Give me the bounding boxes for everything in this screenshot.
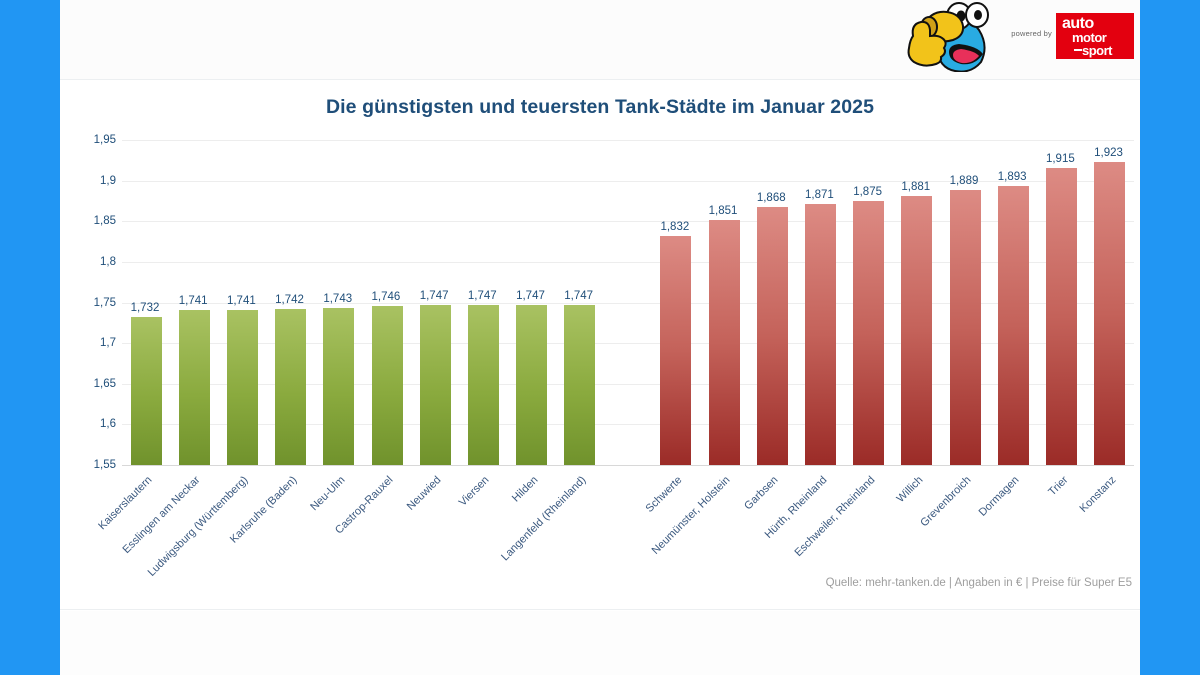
bar[interactable]: 1,741	[179, 310, 210, 465]
y-axis-tick: 1,95	[94, 134, 116, 146]
bar[interactable]: 1,875	[853, 201, 884, 465]
category-tick: Karlsruhe (Baden)	[267, 468, 315, 608]
bar-value-label: 1,832	[660, 221, 689, 233]
y-axis-tick: 1,55	[94, 459, 116, 471]
auto-motor-sport-logo: auto motor sport	[1056, 13, 1134, 59]
y-axis-tick: 1,65	[94, 378, 116, 390]
bar-slot: 1,741	[170, 140, 218, 465]
category-label: Trier	[1046, 474, 1070, 498]
bar[interactable]: 1,746	[372, 306, 403, 465]
bar[interactable]: 1,743	[323, 308, 354, 465]
y-axis-tick: 1,8	[100, 256, 116, 268]
bar-value-label: 1,741	[227, 295, 256, 307]
bar-value-label: 1,871	[805, 189, 834, 201]
bar-slot: 1,889	[941, 140, 989, 465]
bar-slot: 1,893	[989, 140, 1037, 465]
bar-value-label: 1,747	[516, 290, 545, 302]
bar-slot: 1,732	[122, 140, 170, 465]
bar[interactable]: 1,868	[757, 207, 788, 465]
bar-slot: 1,747	[411, 140, 459, 465]
bar-slot: 1,881	[893, 140, 941, 465]
bar[interactable]: 1,889	[950, 190, 981, 465]
bar-slot: 1,875	[845, 140, 893, 465]
category-tick: Viersen	[459, 468, 507, 608]
plot-area: 1,951,91,851,81,751,71,651,61,55 1,7321,…	[60, 80, 1140, 610]
category-tick: Neuwied	[411, 468, 459, 608]
category-tick: Langenfeld (Rheinland)	[556, 468, 604, 608]
bar-value-label: 1,889	[950, 175, 979, 187]
bar-value-label: 1,732	[131, 302, 160, 314]
bar-value-label: 1,747	[468, 290, 497, 302]
bar[interactable]: 1,881	[901, 196, 932, 465]
y-axis-tick: 1,6	[100, 418, 116, 430]
category-label: Schwerte	[644, 474, 685, 515]
bar[interactable]: 1,893	[998, 186, 1029, 465]
category-label: Viersen	[457, 474, 492, 509]
bar-value-label: 1,915	[1046, 153, 1075, 165]
bar[interactable]: 1,741	[227, 310, 258, 465]
bar-value-label: 1,851	[709, 205, 738, 217]
category-label: Neuwied	[405, 474, 444, 513]
powered-by-label: powered by	[1011, 29, 1052, 44]
y-axis-tick: 1,85	[94, 215, 116, 227]
bar-value-label: 1,742	[275, 294, 304, 306]
bar[interactable]: 1,871	[805, 204, 836, 465]
bar[interactable]: 1,747	[516, 305, 547, 465]
bar-slot: 1,743	[315, 140, 363, 465]
bar-slot: 1,742	[267, 140, 315, 465]
header-band: powered by auto motor sport	[60, 0, 1140, 80]
logo-group: powered by auto motor sport	[897, 0, 1134, 72]
bar-slot: 1,746	[363, 140, 411, 465]
bar[interactable]: 1,742	[275, 309, 306, 465]
thumbs-up-mascot-icon	[897, 0, 1007, 72]
bar-slot: 1,832	[652, 140, 700, 465]
bar[interactable]: 1,732	[131, 317, 162, 465]
bar-slot: 1,851	[700, 140, 748, 465]
bar-value-label: 1,746	[372, 291, 401, 303]
x-axis-line	[122, 465, 1134, 466]
bar-value-label: 1,743	[323, 293, 352, 305]
bar-slot: 1,868	[748, 140, 796, 465]
logo-dash	[1074, 49, 1082, 51]
category-label: Garbsen	[743, 474, 781, 512]
bar-slot: 1,747	[556, 140, 604, 465]
bar-group-günstigste: 1,7321,7411,7411,7421,7431,7461,7471,747…	[122, 140, 604, 465]
y-axis-tick: 1,75	[94, 297, 116, 309]
category-tick: Neu-Ulm	[315, 468, 363, 608]
category-tick: Neumünster, Holstein	[700, 468, 748, 608]
bar-slot: 1,747	[459, 140, 507, 465]
bar-value-label: 1,741	[179, 295, 208, 307]
logo-line-sport: sport	[1082, 43, 1112, 58]
y-axis-tick: 1,9	[100, 175, 116, 187]
bar-slot: 1,747	[508, 140, 556, 465]
category-label: Willich	[895, 474, 926, 505]
bar-value-label: 1,747	[420, 290, 449, 302]
bar-value-label: 1,923	[1094, 147, 1123, 159]
bar-slot: 1,915	[1037, 140, 1085, 465]
bar[interactable]: 1,747	[420, 305, 451, 465]
bars-container: 1,7321,7411,7411,7421,7431,7461,7471,747…	[122, 140, 1134, 465]
bar[interactable]: 1,747	[468, 305, 499, 465]
bar-value-label: 1,881	[901, 181, 930, 193]
bar-slot: 1,923	[1086, 140, 1134, 465]
bar[interactable]: 1,923	[1094, 162, 1125, 465]
footer-band	[60, 611, 1140, 675]
bar-value-label: 1,868	[757, 192, 786, 204]
bar[interactable]: 1,832	[660, 236, 691, 465]
bar[interactable]: 1,915	[1046, 168, 1077, 465]
bar-value-label: 1,875	[853, 186, 882, 198]
category-label: Neu-Ulm	[308, 474, 347, 513]
content-sheet: powered by auto motor sport Die günstigs…	[60, 0, 1140, 675]
chart-card: Die günstigsten und teuersten Tank-Städt…	[60, 80, 1140, 610]
category-label: Hilden	[510, 474, 541, 505]
page-root: powered by auto motor sport Die günstigs…	[0, 0, 1200, 675]
y-axis: 1,951,91,851,81,751,71,651,61,55	[68, 140, 116, 465]
source-note: Quelle: mehr-tanken.de | Angaben in € | …	[826, 577, 1132, 589]
bar-value-label: 1,893	[998, 171, 1027, 183]
bar-slot: 1,741	[218, 140, 266, 465]
group-gap	[604, 140, 652, 465]
bar-slot: 1,871	[796, 140, 844, 465]
y-axis-tick: 1,7	[100, 337, 116, 349]
bar[interactable]: 1,851	[709, 220, 740, 465]
category-tick: Castrop-Rauxel	[363, 468, 411, 608]
bar[interactable]: 1,747	[564, 305, 595, 465]
bar-group-teuerste: 1,8321,8511,8681,8711,8751,8811,8891,893…	[652, 140, 1134, 465]
bar-value-label: 1,747	[564, 290, 593, 302]
